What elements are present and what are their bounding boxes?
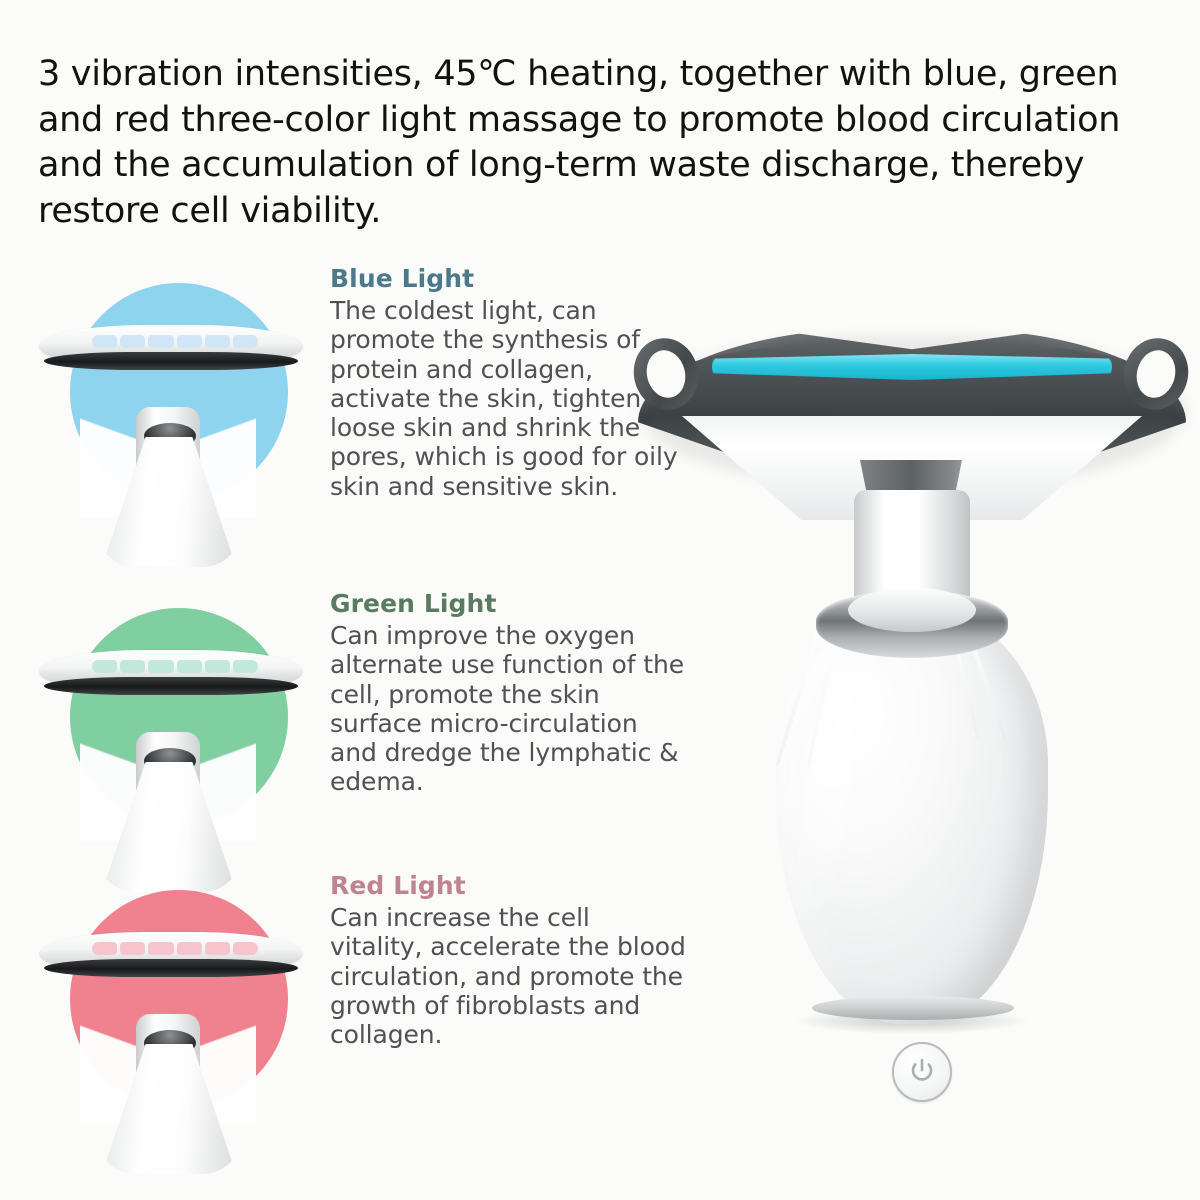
mini-head-dark-band bbox=[44, 677, 298, 695]
mini-head-dark-band bbox=[44, 352, 298, 370]
mini-led-strip-red bbox=[92, 942, 258, 955]
product-photo-neck-device bbox=[620, 320, 1200, 1040]
feature-image-red-light bbox=[48, 880, 293, 1125]
product-infographic: 3 vibration intensities, 45℃ heating, to… bbox=[0, 0, 1200, 1200]
mini-led-strip-blue bbox=[92, 335, 258, 348]
feature-image-blue-light bbox=[48, 273, 293, 518]
mini-device-head-red bbox=[40, 926, 302, 996]
device-base-rim bbox=[812, 996, 1014, 1020]
mini-device-head-green bbox=[40, 644, 302, 714]
intro-paragraph: 3 vibration intensities, 45℃ heating, to… bbox=[38, 52, 1168, 234]
feature-image-green-light bbox=[48, 598, 293, 843]
mini-head-dark-band bbox=[44, 959, 298, 977]
mini-led-strip-green bbox=[92, 660, 258, 673]
power-icon bbox=[909, 1057, 935, 1085]
device-collar-inner bbox=[848, 588, 976, 632]
mini-device-head-blue bbox=[40, 319, 302, 389]
feature-heading-blue-light: Blue Light bbox=[330, 265, 690, 293]
